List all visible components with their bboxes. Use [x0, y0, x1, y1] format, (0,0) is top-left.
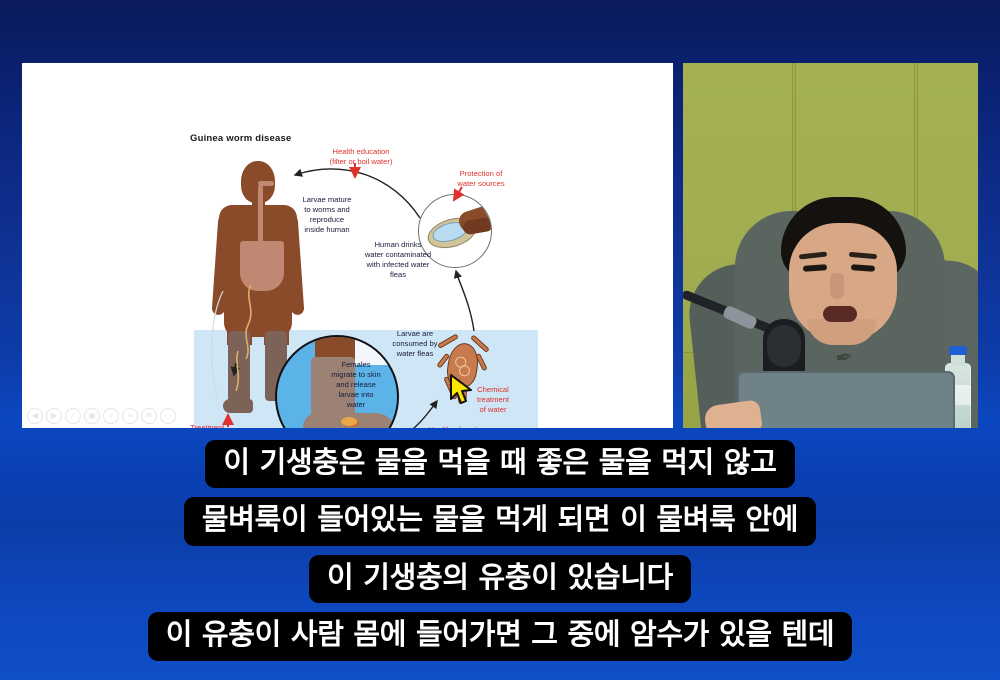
- mail-icon[interactable]: ✉: [141, 408, 157, 424]
- laptop: [737, 371, 955, 428]
- microphone-grill: [767, 325, 801, 367]
- video-frame: Guinea worm disease: [0, 0, 1000, 680]
- camera-icon[interactable]: ▣: [84, 408, 100, 424]
- viewer-toolbar[interactable]: ◀ ▶ ∕ ▣ ⌕ ≡ ✉ ⋯: [27, 408, 176, 424]
- diagram-title: Guinea worm disease: [190, 133, 291, 144]
- list-icon[interactable]: ≡: [122, 408, 138, 424]
- human-foot-left: [223, 399, 253, 413]
- label-females-migrate: Females migrate to skin and release larv…: [318, 360, 394, 410]
- mouse-cursor: [449, 374, 475, 404]
- speaker-nose: [830, 273, 844, 299]
- guinea-worm-diagram: Guinea worm disease: [22, 63, 673, 428]
- search-icon[interactable]: ⌕: [103, 408, 119, 424]
- worm-blister: [341, 417, 357, 426]
- label-larvae-mature: Larvae mature to worms and reproduce ins…: [287, 195, 367, 235]
- subtitle-block: 이 기생충은 물을 먹을 때 좋은 물을 먹지 않고 물벼룩이 들어있는 물을 …: [0, 440, 1000, 661]
- stomach: [240, 241, 284, 291]
- human-leg-left: [228, 331, 250, 409]
- label-protection-water-sources: Protection of water sources: [439, 169, 523, 189]
- subtitle-line-4: 이 유충이 사람 몸에 들어가면 그 중에 암수가 있을 텐데: [148, 612, 853, 660]
- water-bottle-cap: [949, 346, 967, 355]
- subtitle-line-1: 이 기생충은 물을 먹을 때 좋은 물을 먹지 않고: [205, 440, 794, 488]
- back-icon[interactable]: ◀: [27, 408, 43, 424]
- speaker-mouth: [823, 306, 857, 322]
- label-health-education-filter: Health education (filter or boil water): [316, 147, 406, 167]
- esophagus: [258, 185, 263, 247]
- subtitle-line-3: 이 기생충의 유충이 있습니다: [309, 555, 691, 603]
- more-icon[interactable]: ⋯: [160, 408, 176, 424]
- esophagus-top: [258, 181, 274, 186]
- label-treatment: Treatment (worm removal, wound cleansing…: [190, 423, 290, 428]
- webcam-panel[interactable]: ✒: [683, 63, 978, 428]
- play-icon[interactable]: ▶: [46, 408, 62, 424]
- subtitle-line-2: 물벼룩이 들어있는 물을 먹게 되면 이 물벼룩 안에: [184, 497, 816, 545]
- label-larvae-consumed: Larvae are consumed by water fleas: [378, 329, 452, 359]
- shared-slide-panel[interactable]: Guinea worm disease: [22, 63, 673, 428]
- label-human-drinks: Human drinks water contaminated with inf…: [352, 240, 444, 280]
- pen-icon[interactable]: ∕: [65, 408, 81, 424]
- label-health-education-prevent: Health education (prevent host from ente…: [411, 425, 503, 428]
